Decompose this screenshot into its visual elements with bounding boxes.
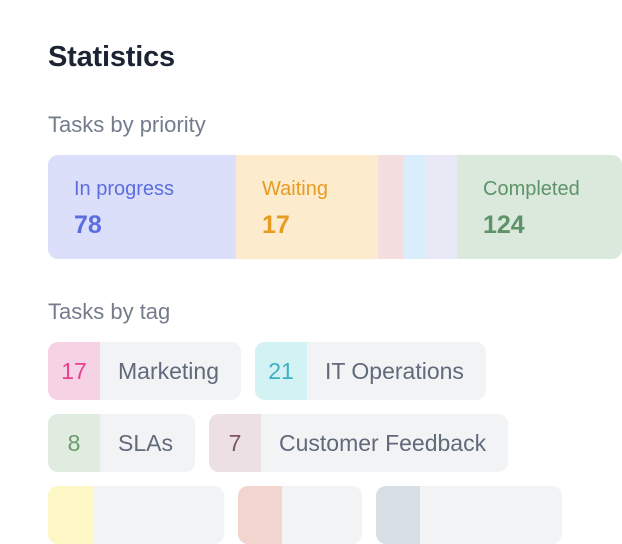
priority-segment-name: Waiting — [262, 179, 378, 199]
tasks-by-priority-label: Tasks by priority — [48, 113, 622, 137]
tag-label — [94, 486, 134, 544]
tag-chip-slas[interactable]: 8SLAs — [48, 414, 195, 472]
priority-segment-value: 17 — [262, 213, 378, 238]
tag-count-badge: 17 — [48, 342, 100, 400]
tag-count-badge — [238, 486, 282, 544]
tag-label — [420, 486, 460, 544]
tag-label: Marketing — [100, 342, 241, 400]
tag-count-badge: 7 — [209, 414, 261, 472]
tag-chip-customer-feedback[interactable]: 7Customer Feedback — [209, 414, 508, 472]
priority-segment-value: 78 — [74, 213, 236, 238]
priority-segment-value: 124 — [483, 213, 622, 238]
tag-row — [48, 486, 622, 544]
tag-label: Customer Feedback — [261, 414, 508, 472]
priority-segment-name: In progress — [74, 179, 236, 199]
priority-segment-in-progress[interactable]: In progress78 — [48, 155, 236, 259]
tag-chip-marketing[interactable]: 17Marketing — [48, 342, 241, 400]
priority-segment-2[interactable] — [378, 155, 404, 259]
priority-segment-waiting[interactable]: Waiting17 — [236, 155, 378, 259]
priority-segment-3[interactable] — [404, 155, 426, 259]
tag-count-badge — [376, 486, 420, 544]
tag-label: SLAs — [100, 414, 195, 472]
tag-count-badge: 8 — [48, 414, 100, 472]
tasks-by-priority-bar: In progress78Waiting17Completed124 — [48, 155, 622, 259]
tag-row: 17Marketing21IT Operations — [48, 342, 622, 400]
tag-count-badge — [48, 486, 94, 544]
tag-label: IT Operations — [307, 342, 486, 400]
tag-chip-it-operations[interactable]: 21IT Operations — [255, 342, 486, 400]
tag-chip[interactable] — [48, 486, 224, 544]
page-title: Statistics — [48, 42, 622, 74]
tasks-by-tag-list: 17Marketing21IT Operations8SLAs7Customer… — [48, 342, 622, 544]
priority-segment-completed[interactable]: Completed124 — [457, 155, 622, 259]
tag-row: 8SLAs7Customer Feedback — [48, 414, 622, 472]
priority-segment-name: Completed — [483, 179, 622, 199]
priority-segment-4[interactable] — [426, 155, 457, 259]
statistics-panel: Statistics Tasks by priority In progress… — [0, 0, 622, 522]
tasks-by-tag-label: Tasks by tag — [48, 300, 622, 324]
tag-count-badge: 21 — [255, 342, 307, 400]
tag-chip[interactable] — [376, 486, 562, 544]
tag-chip[interactable] — [238, 486, 362, 544]
tag-label — [282, 486, 322, 544]
